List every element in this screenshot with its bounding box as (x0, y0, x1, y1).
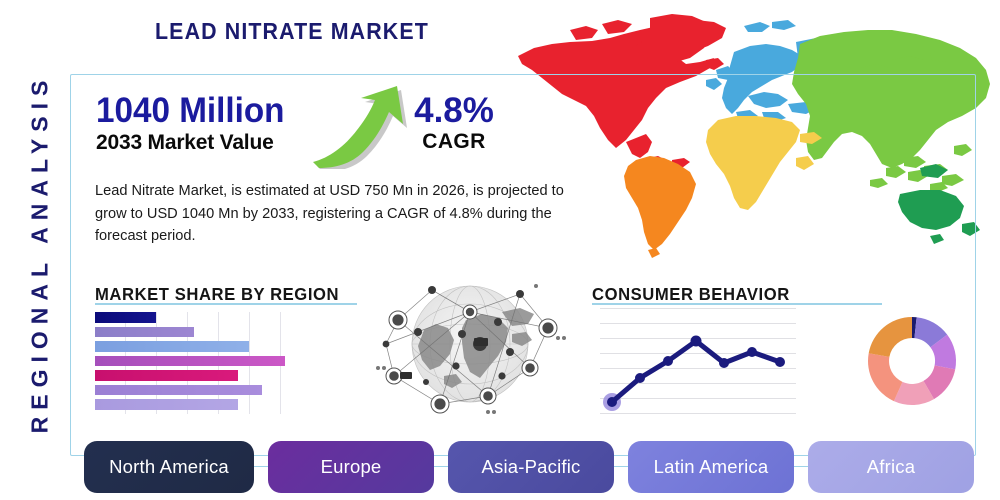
region-button-label: Latin America (654, 456, 769, 478)
table-row (95, 356, 285, 367)
table-row (95, 327, 194, 338)
table-row (95, 370, 238, 381)
cagr-value: 4.8% (406, 93, 502, 128)
region-button-latin-america[interactable]: Latin America (628, 441, 794, 493)
table-row (95, 385, 262, 396)
consumer-behavior-line-chart (600, 308, 796, 414)
region-button-europe[interactable]: Europe (268, 441, 434, 493)
region-button-asia-pacific[interactable]: Asia-Pacific (448, 441, 614, 493)
side-label: REGIONAL ANALYSIS (27, 54, 54, 454)
region-button-africa[interactable]: Africa (808, 441, 974, 493)
page-title: LEAD NITRATE MARKET (155, 18, 429, 45)
market-description: Lead Nitrate Market, is estimated at USD… (95, 180, 583, 248)
region-button-label: North America (109, 456, 229, 478)
section-heading-market-share: MARKET SHARE BY REGION (95, 284, 339, 305)
table-row (95, 399, 238, 410)
cagr-label: CAGR (406, 130, 502, 154)
region-button-label: Europe (321, 456, 382, 478)
region-button-row: North America Europe Asia-Pacific Latin … (84, 441, 964, 493)
cagr-block: 4.8% CAGR (406, 93, 502, 154)
region-button-north-america[interactable]: North America (84, 441, 254, 493)
growth-arrow-icon (305, 84, 410, 169)
infographic-canvas: REGIONAL ANALYSIS LEAD NITRATE MARKET (0, 0, 1000, 500)
section-rule-market-share (95, 303, 357, 305)
consumer-segments-donut-chart (858, 307, 966, 415)
table-row (95, 312, 156, 323)
market-share-bar-chart (95, 312, 285, 414)
global-network-graphic (370, 272, 570, 420)
section-rule-consumer-behavior (592, 303, 882, 305)
region-button-label: Africa (867, 456, 916, 478)
section-heading-consumer-behavior: CONSUMER BEHAVIOR (592, 284, 790, 305)
region-button-label: Asia-Pacific (481, 456, 580, 478)
table-row (95, 341, 249, 352)
